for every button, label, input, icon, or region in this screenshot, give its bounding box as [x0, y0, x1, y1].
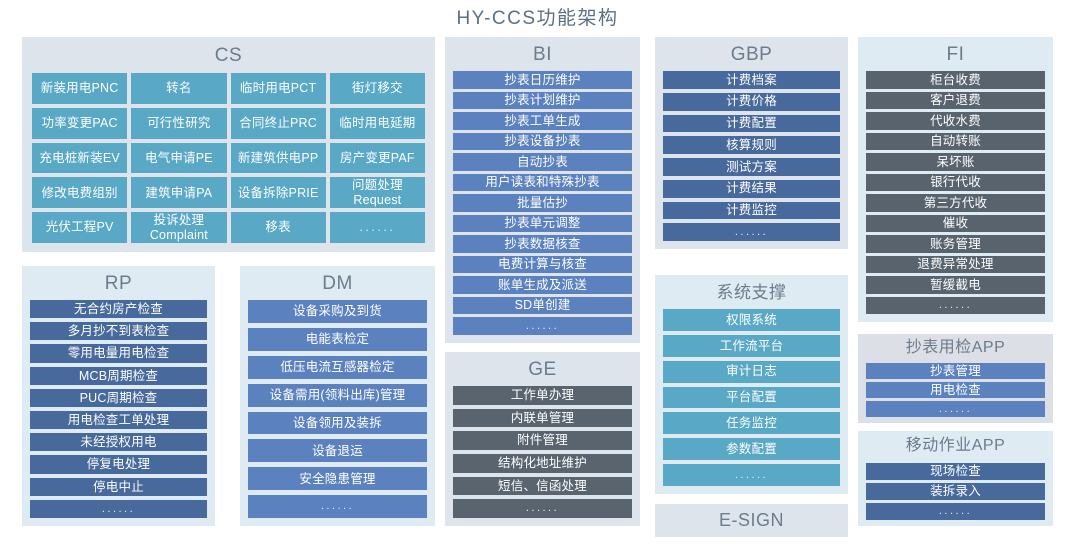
tile[interactable]: 用电检查工单处理 — [30, 411, 207, 429]
tile[interactable]: 临时用电PCT — [231, 73, 326, 104]
tile[interactable]: 权限系统 — [663, 309, 840, 331]
panel-dm-tiles: 设备采购及到货电能表检定低压电流互感器检定设备需用(领料出库)管理设备领用及装拆… — [248, 300, 427, 518]
tile[interactable]: SD单创建 — [453, 297, 632, 315]
panel-fi: FI 柜台收费客户退费代收水费自动转账呆坏账银行代收第三方代收催收账务管理退费异… — [858, 37, 1053, 322]
panel-esign-title: E-SIGN — [655, 504, 848, 529]
tile[interactable]: 投诉处理 Complaint — [131, 212, 226, 243]
panel-gbp-tiles: 计费档案计费价格计费配置核算规则测试方案计费结果计费监控...... — [663, 71, 840, 241]
panel-mobile-app-tiles: 现场检查装拆录入...... — [866, 463, 1045, 520]
panel-rp-title: RP — [22, 266, 215, 293]
panel-fi-tiles: 柜台收费客户退费代收水费自动转账呆坏账银行代收第三方代收催收账务管理退费异常处理… — [866, 71, 1045, 314]
panel-bi: BI 抄表日历维护抄表计划维护抄表工单生成抄表设备抄表自动抄表用户读表和特殊抄表… — [445, 37, 640, 343]
tile[interactable]: 安全隐患管理 — [248, 467, 427, 490]
tile[interactable]: PUC周期检查 — [30, 389, 207, 407]
panel-ge-title: GE — [445, 352, 640, 379]
tile[interactable]: 计费价格 — [663, 93, 840, 111]
tile[interactable]: 未经授权用电 — [30, 433, 207, 451]
tile[interactable]: 建筑申请PA — [131, 177, 226, 208]
tile[interactable]: 呆坏账 — [866, 153, 1045, 171]
panel-system-support: 系统支撑 权限系统工作流平台审计日志平台配置任务监控参数配置...... — [655, 275, 848, 494]
tile[interactable]: 核算规则 — [663, 136, 840, 154]
tile[interactable]: 账单生成及派送 — [453, 276, 632, 294]
tile[interactable]: 代收水费 — [866, 112, 1045, 130]
panel-meter-app: 抄表用检APP 抄表管理用电检查...... — [858, 334, 1053, 423]
tile[interactable]: 设备退运 — [248, 439, 427, 462]
tile[interactable]: 光伏工程PV — [32, 212, 127, 243]
tile-more[interactable]: ...... — [453, 317, 632, 335]
panel-esign: E-SIGN — [655, 504, 848, 537]
panel-gbp-title: GBP — [655, 37, 848, 64]
tile[interactable]: 抄表工单生成 — [453, 112, 632, 130]
panel-bi-tiles: 抄表日历维护抄表计划维护抄表工单生成抄表设备抄表自动抄表用户读表和特殊抄表批量估… — [453, 71, 632, 335]
page-title: HY-CCS功能架构 — [0, 3, 1075, 30]
tile[interactable]: 电能表检定 — [248, 328, 427, 351]
tile-more[interactable]: ...... — [866, 401, 1045, 417]
tile[interactable]: 抄表计划维护 — [453, 92, 632, 110]
panel-dm: DM 设备采购及到货电能表检定低压电流互感器检定设备需用(领料出库)管理设备领用… — [240, 266, 435, 526]
tile[interactable]: 第三方代收 — [866, 194, 1045, 212]
tile[interactable]: 街灯移交 — [330, 73, 425, 104]
tile[interactable]: 设备采购及到货 — [248, 300, 427, 323]
tile[interactable]: 装拆录入 — [866, 483, 1045, 500]
tile[interactable]: 抄表日历维护 — [453, 71, 632, 89]
tile[interactable]: 低压电流互感器检定 — [248, 356, 427, 379]
tile[interactable]: 抄表设备抄表 — [453, 133, 632, 151]
tile-more[interactable]: ...... — [330, 212, 425, 243]
tile[interactable]: 工作流平台 — [663, 335, 840, 357]
panel-cs-title: CS — [22, 37, 435, 65]
tile[interactable]: 催收 — [866, 215, 1045, 233]
tile[interactable]: 充电桩新装EV — [32, 143, 127, 174]
tile[interactable]: 电费计算与核查 — [453, 256, 632, 274]
tile[interactable]: 停复电处理 — [30, 455, 207, 473]
tile[interactable]: 修改电费组别 — [32, 177, 127, 208]
tile[interactable]: 参数配置 — [663, 438, 840, 460]
tile[interactable]: 自动转账 — [866, 133, 1045, 151]
tile[interactable]: 合同终止PRC — [231, 108, 326, 139]
tile[interactable]: 设备领用及装拆 — [248, 412, 427, 435]
tile[interactable]: 内联单管理 — [453, 409, 632, 428]
tile[interactable]: 问题处理 Request — [330, 177, 425, 208]
tile[interactable]: 计费监控 — [663, 202, 840, 220]
tile[interactable]: 转名 — [131, 73, 226, 104]
tile[interactable]: 房产变更PAF — [330, 143, 425, 174]
tile-more[interactable]: ...... — [663, 464, 840, 486]
tile[interactable]: 零用电量用电检查 — [30, 344, 207, 362]
tile[interactable]: 任务监控 — [663, 412, 840, 434]
tile[interactable]: 批量估抄 — [453, 194, 632, 212]
tile[interactable]: 计费档案 — [663, 71, 840, 89]
tile[interactable]: 平台配置 — [663, 387, 840, 409]
panel-rp: RP 无合约房产检查多月抄不到表检查零用电量用电检查MCB周期检查PUC周期检查… — [22, 266, 215, 526]
tile[interactable]: 结构化地址维护 — [453, 454, 632, 473]
panel-system-support-title: 系统支撑 — [655, 275, 848, 301]
panel-gbp: GBP 计费档案计费价格计费配置核算规则测试方案计费结果计费监控...... — [655, 37, 848, 249]
tile[interactable]: 柜台收费 — [866, 71, 1045, 89]
panel-mobile-app: 移动作业APP 现场检查装拆录入...... — [858, 431, 1053, 526]
tile[interactable]: 移表 — [231, 212, 326, 243]
tile[interactable]: 账务管理 — [866, 235, 1045, 253]
tile[interactable]: 银行代收 — [866, 174, 1045, 192]
tile[interactable]: 工作单办理 — [453, 386, 632, 405]
tile[interactable]: 设备拆除PRIE — [231, 177, 326, 208]
tile-more[interactable]: ...... — [866, 297, 1045, 315]
panel-ge-tiles: 工作单办理内联单管理附件管理结构化地址维护短信、信函处理...... — [453, 386, 632, 518]
tile[interactable]: 抄表数据核查 — [453, 235, 632, 253]
panel-dm-title: DM — [240, 266, 435, 293]
tile[interactable]: 退费异常处理 — [866, 256, 1045, 274]
panel-fi-title: FI — [858, 37, 1053, 64]
tile[interactable]: 抄表单元调整 — [453, 215, 632, 233]
tile-more[interactable]: ...... — [663, 223, 840, 241]
tile[interactable]: 新装用电PNC — [32, 73, 127, 104]
tile[interactable]: 电气申请PE — [131, 143, 226, 174]
tile[interactable]: 可行性研究 — [131, 108, 226, 139]
tile[interactable]: 无合约房产检查 — [30, 300, 207, 318]
panel-ge: GE 工作单办理内联单管理附件管理结构化地址维护短信、信函处理...... — [445, 352, 640, 526]
panel-system-support-tiles: 权限系统工作流平台审计日志平台配置任务监控参数配置...... — [663, 309, 840, 486]
tile[interactable]: 多月抄不到表检查 — [30, 322, 207, 340]
tile[interactable]: 审计日志 — [663, 361, 840, 383]
tile[interactable]: 抄表管理 — [866, 363, 1045, 379]
panel-bi-title: BI — [445, 37, 640, 64]
tile[interactable]: 临时用电延期 — [330, 108, 425, 139]
panel-cs-tiles: 新装用电PNC转名临时用电PCT街灯移交功率变更PAC可行性研究合同终止PRC临… — [32, 73, 425, 243]
tile[interactable]: 自动抄表 — [453, 153, 632, 171]
panel-cs: CS 新装用电PNC转名临时用电PCT街灯移交功率变更PAC可行性研究合同终止P… — [22, 37, 435, 252]
tile[interactable]: 设备需用(领料出库)管理 — [248, 384, 427, 407]
panel-rp-tiles: 无合约房产检查多月抄不到表检查零用电量用电检查MCB周期检查PUC周期检查用电检… — [30, 300, 207, 518]
tile[interactable]: 计费结果 — [663, 180, 840, 198]
panel-mobile-app-title: 移动作业APP — [858, 431, 1053, 454]
tile[interactable]: 新建筑供电PP — [231, 143, 326, 174]
panel-meter-app-tiles: 抄表管理用电检查...... — [866, 363, 1045, 417]
tile[interactable]: 停电中止 — [30, 478, 207, 496]
tile[interactable]: 计费配置 — [663, 115, 840, 133]
tile-more[interactable]: ...... — [453, 499, 632, 518]
tile[interactable]: 现场检查 — [866, 463, 1045, 480]
tile-more[interactable]: ...... — [866, 503, 1045, 520]
tile-more[interactable]: ...... — [248, 495, 427, 518]
tile[interactable]: 功率变更PAC — [32, 108, 127, 139]
tile[interactable]: 短信、信函处理 — [453, 477, 632, 496]
tile[interactable]: 用电检查 — [866, 382, 1045, 398]
tile[interactable]: 暂缓截电 — [866, 276, 1045, 294]
tile[interactable]: MCB周期检查 — [30, 367, 207, 385]
tile-more[interactable]: ...... — [30, 500, 207, 518]
tile[interactable]: 用户读表和特殊抄表 — [453, 174, 632, 192]
tile[interactable]: 附件管理 — [453, 431, 632, 450]
tile[interactable]: 客户退费 — [866, 92, 1045, 110]
tile[interactable]: 测试方案 — [663, 158, 840, 176]
panel-meter-app-title: 抄表用检APP — [858, 334, 1053, 356]
